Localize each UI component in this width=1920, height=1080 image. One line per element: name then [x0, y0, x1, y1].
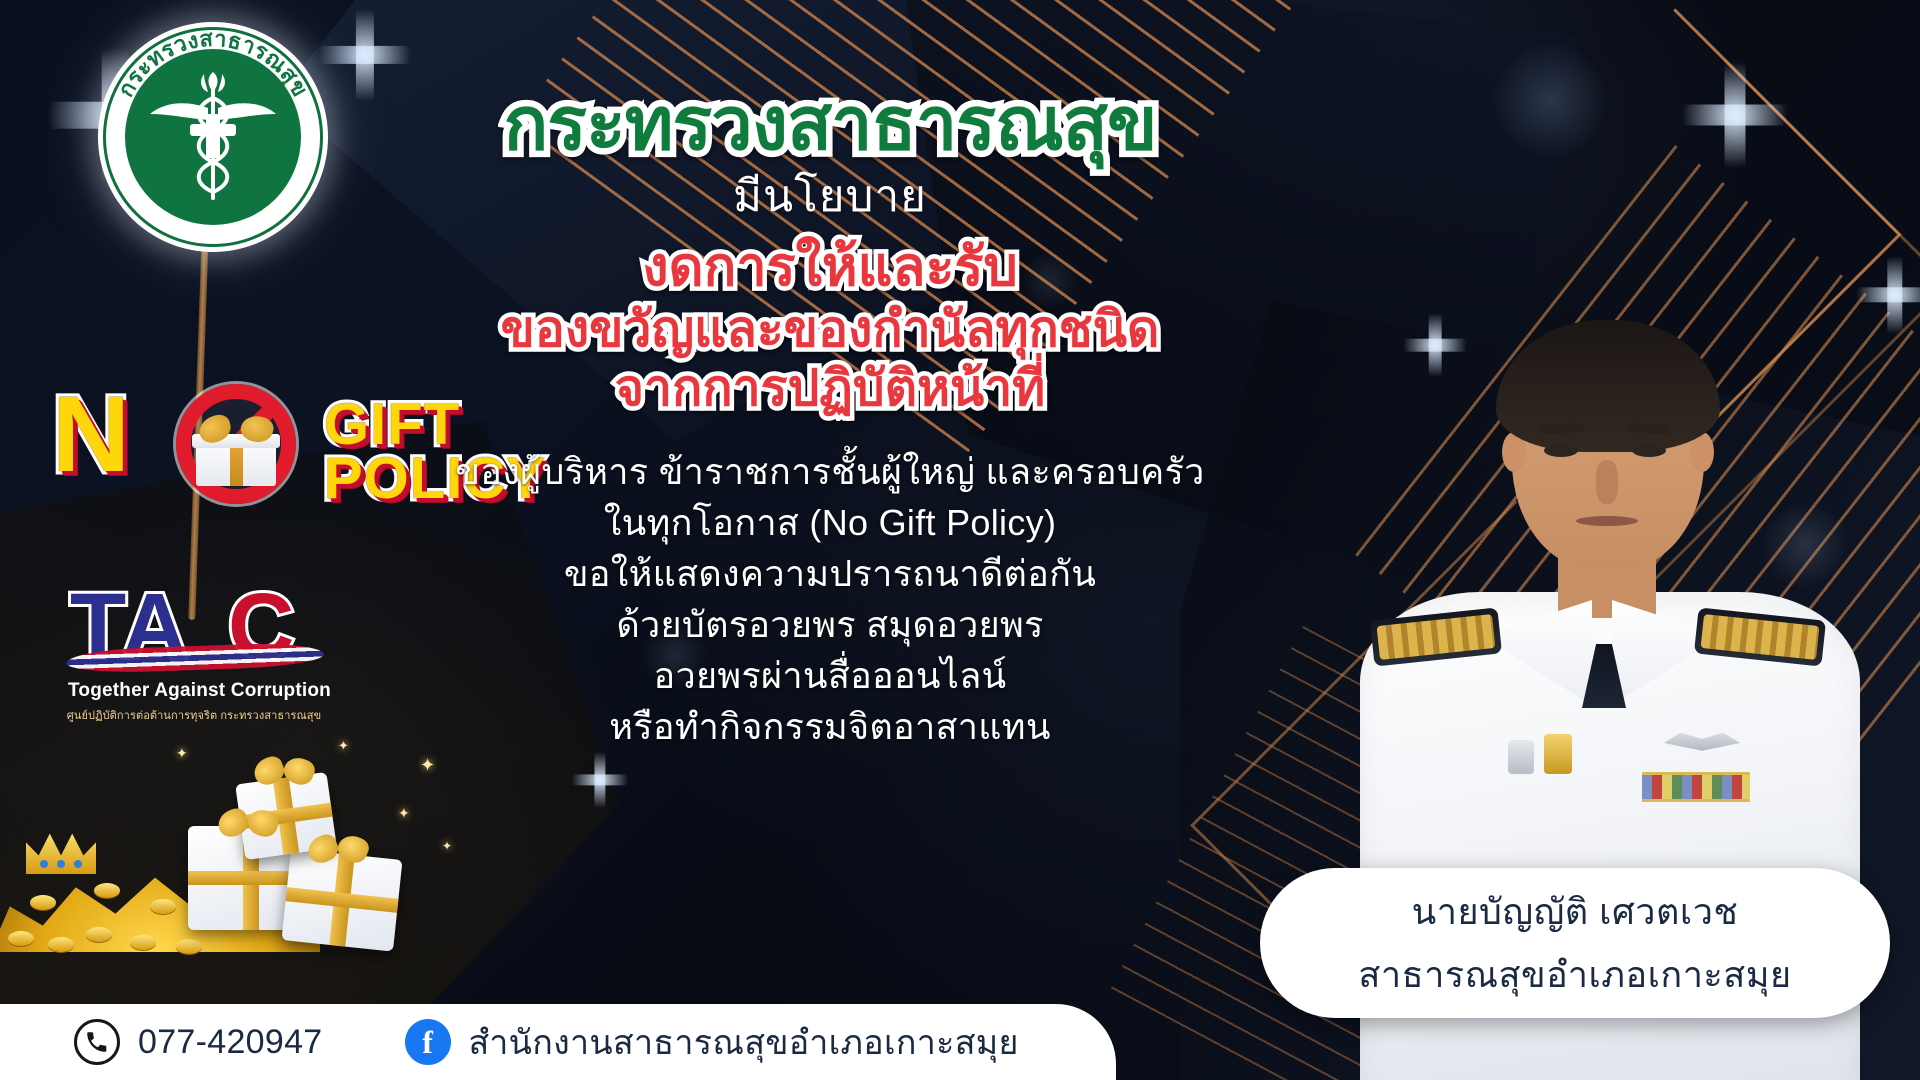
gold-coin [30, 895, 56, 910]
gold-coin [48, 937, 74, 952]
caduceus-icon [128, 52, 298, 222]
facebook-icon: f [405, 1019, 451, 1065]
crown-jewel [40, 860, 48, 868]
sparkle-icon: ✦ [442, 840, 452, 852]
facebook-contact: f สำนักงานสาธารณสุขอำเภอเกาะสมุย [405, 1015, 1019, 1069]
gift-bow [222, 810, 276, 844]
gold-coin [94, 883, 120, 898]
gold-coin [86, 927, 112, 942]
policy-line: ของขวัญและของกำนัลทุกชนิด [420, 300, 1240, 359]
policy-statement-red: งดการให้และรับ ของขวัญและของกำนัลทุกชนิด… [420, 236, 1240, 418]
bokeh-glow [1490, 40, 1610, 160]
crown-jewel [57, 860, 65, 868]
sparkle-icon: ✦ [420, 756, 435, 774]
phone-contact: 077-420947 [74, 1019, 323, 1065]
gift-box-icon [196, 412, 276, 486]
contact-footer: 077-420947 f สำนักงานสาธารณสุขอำเภอเกาะส… [0, 1004, 1116, 1080]
eye-right [1632, 444, 1666, 457]
policy-line: จากการปฏิบัติหน้าที่ [420, 359, 1240, 418]
detail-line: ขอให้แสดงความปรารถนาดีต่อกัน [420, 548, 1240, 599]
main-text-block: กระทรวงสาธารณสุข มีนโยบาย งดการให้และรับ… [420, 86, 1240, 752]
facebook-page-name: สำนักงานสาธารณสุขอำเภอเกาะสมุย [469, 1015, 1019, 1069]
sparkle-icon: ✦ [398, 806, 410, 820]
gift-bow [258, 758, 312, 792]
detail-line: หรือทำกิจกรรมจิตอาสาแทน [420, 701, 1240, 752]
official-nameplate: นายบัญญัติ เศวตเวช สาธารณสุขอำเภอเกาะสมุ… [1260, 868, 1890, 1018]
service-ribbons [1642, 772, 1750, 802]
eye-left [1544, 444, 1578, 457]
policy-detail-white: ของผู้บริหาร ข้าราชการชั้นผู้ใหญ่ และครอ… [420, 446, 1240, 753]
gold-coin [130, 935, 156, 950]
no-gift-letter-n: N [52, 380, 131, 488]
gift-bow [312, 836, 366, 870]
uniform-badge [1508, 740, 1534, 774]
crown-icon [26, 830, 96, 874]
ministry-of-public-health-logo: กระทรวงสาธารณสุข MINISTRY OF PUBLIC HEAL… [98, 22, 328, 252]
mouth [1576, 516, 1638, 526]
detail-line: ของผู้บริหาร ข้าราชการชั้นผู้ใหญ่ และครอ… [420, 446, 1240, 497]
gold-coin [8, 931, 34, 946]
policy-line: งดการให้และรับ [420, 236, 1240, 300]
hair [1496, 320, 1720, 452]
uniform-badge [1544, 734, 1572, 774]
page-title: กระทรวงสาธารณสุข [420, 86, 1240, 161]
gold-coin [176, 939, 202, 954]
nose [1596, 460, 1618, 504]
detail-line: อวยพรผ่านสื่อออนไลน์ [420, 650, 1240, 701]
subtitle: มีนโยบาย [420, 173, 1240, 221]
gold-coin [150, 899, 176, 914]
detail-line: ในทุกโอกาส (No Gift Policy) [420, 497, 1240, 548]
crown-jewel [74, 860, 82, 868]
official-role: สาธารณสุขอำเภอเกาะสมุย [1358, 946, 1791, 1003]
poster-canvas: กระทรวงสาธารณสุข MINISTRY OF PUBLIC HEAL… [0, 0, 1920, 1080]
phone-number: 077-420947 [138, 1023, 323, 1062]
detail-line: ด้วยบัตรอวยพร สมุดอวยพร [420, 599, 1240, 650]
sparkle-icon: ✦ [176, 746, 188, 760]
phone-icon [74, 1019, 120, 1065]
official-name: นายบัญญัติ เศวตเวช [1412, 883, 1739, 940]
sparkle-icon: ✦ [338, 739, 349, 752]
